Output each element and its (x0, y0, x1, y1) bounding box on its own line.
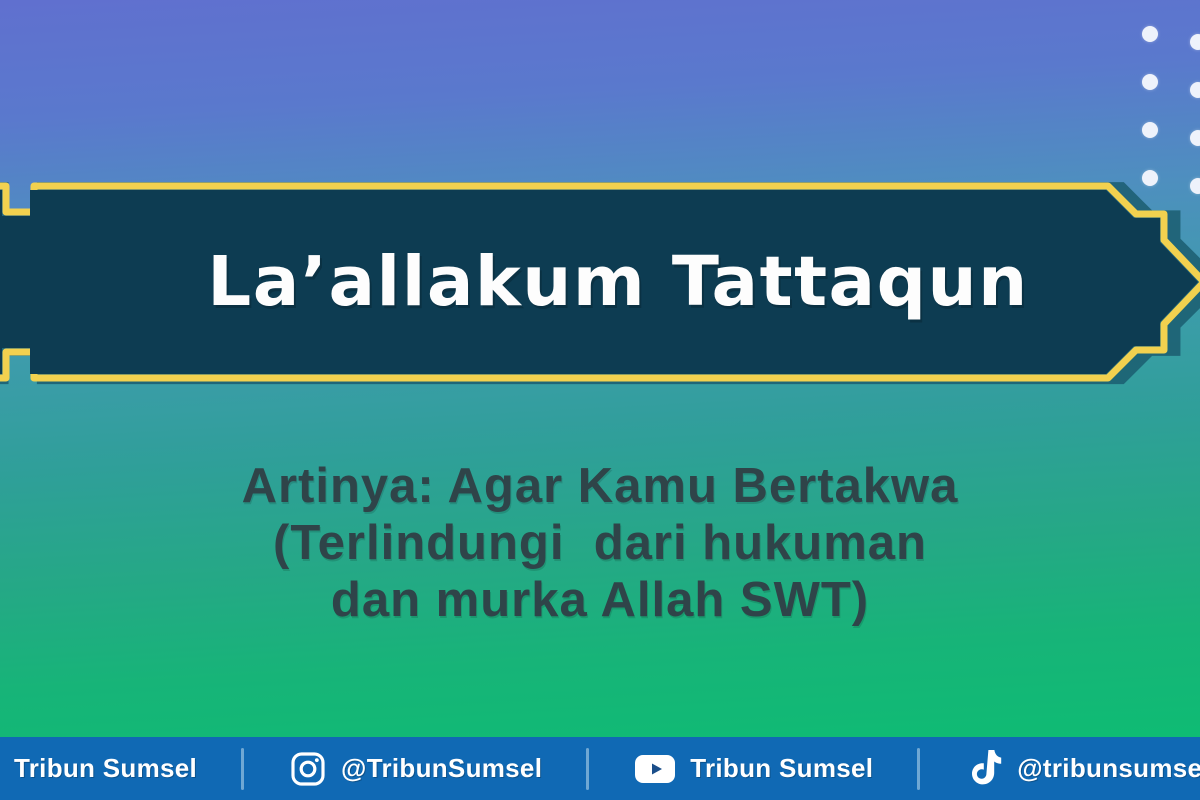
footer-divider-3 (917, 748, 920, 790)
footer-divider-1 (241, 748, 244, 790)
dot-decoration (1142, 26, 1158, 42)
footer-item-tiktok[interactable]: @tribunsumsel (964, 737, 1200, 800)
instagram-icon (288, 749, 328, 789)
dot-decoration (1142, 122, 1158, 138)
tiktok-handle: @tribunsumsel (1017, 753, 1200, 784)
footer-item-instagram[interactable]: @TribunSumsel (288, 737, 542, 800)
instagram-handle: @TribunSumsel (341, 753, 542, 784)
footer-divider-2 (586, 748, 589, 790)
title-banner (0, 168, 1200, 396)
meaning-line-2: (Terlindungi dari hukuman (0, 515, 1200, 572)
quote-card: La’allakum Tattaqun Artinya: Agar Kamu B… (0, 0, 1200, 800)
dot-decoration (1190, 34, 1200, 50)
youtube-icon (633, 752, 677, 786)
meaning-text: Artinya: Agar Kamu Bertakwa (Terlindungi… (0, 458, 1200, 629)
meaning-line-1: Artinya: Agar Kamu Bertakwa (0, 458, 1200, 515)
social-footer: Tribun Sumsel @TribunSumsel Tribun (0, 737, 1200, 800)
dot-decoration (1190, 82, 1200, 98)
footer-item-youtube[interactable]: Tribun Sumsel (633, 737, 873, 800)
tiktok-icon (964, 747, 1004, 791)
dot-decoration (1142, 74, 1158, 90)
footer-brand-label: Tribun Sumsel (14, 753, 197, 784)
dot-decoration (1190, 130, 1200, 146)
meaning-line-3: dan murka Allah SWT) (0, 572, 1200, 629)
youtube-channel: Tribun Sumsel (690, 753, 873, 784)
footer-item-brand[interactable]: Tribun Sumsel (14, 737, 197, 800)
banner-fill (0, 190, 1198, 374)
